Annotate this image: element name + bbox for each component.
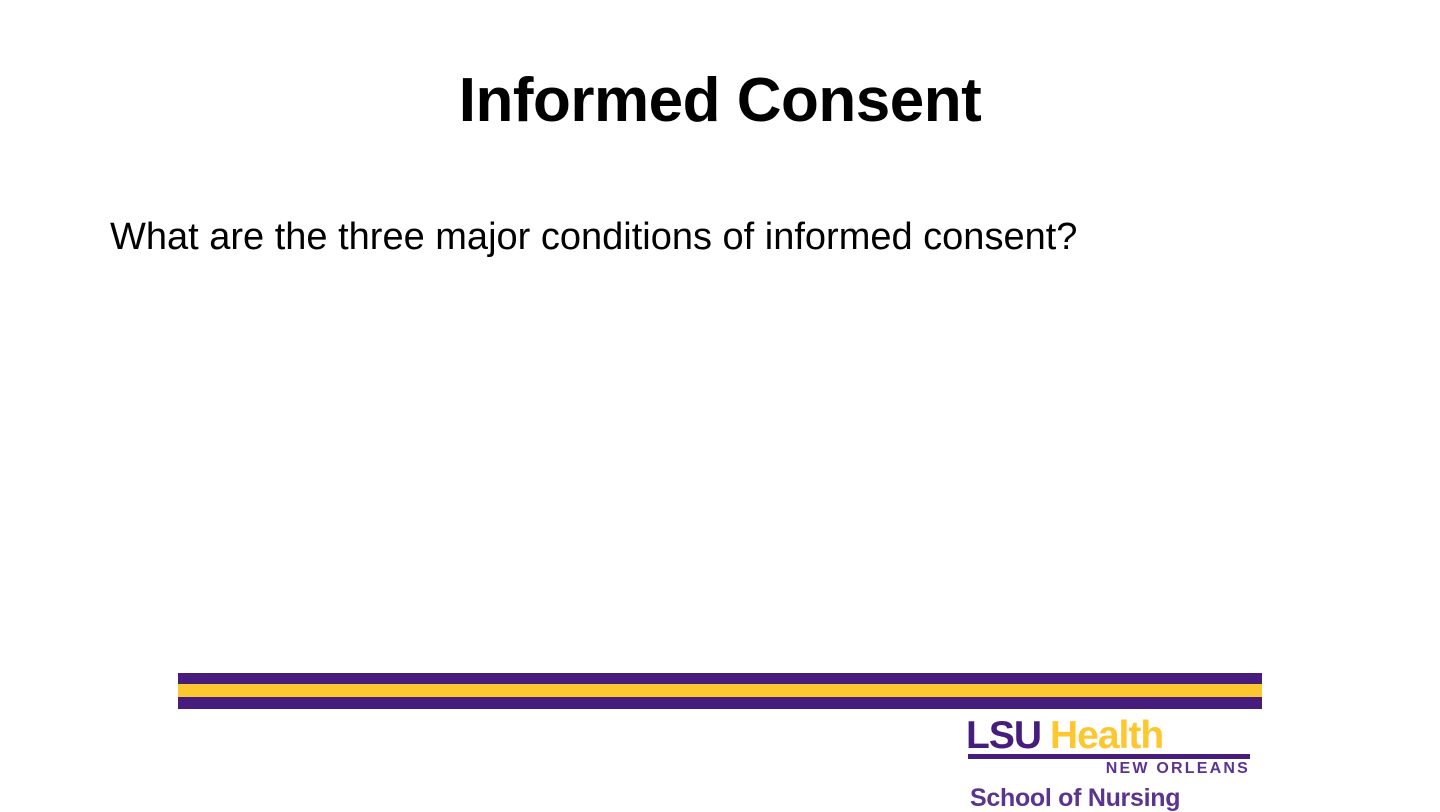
- logo-health-text: Health: [1050, 714, 1163, 757]
- presentation-slide: Informed Consent What are the three majo…: [0, 0, 1440, 812]
- page-title: Informed Consent: [0, 68, 1440, 133]
- stripe-band-purple-top: [178, 673, 1262, 684]
- stripe-band-gold: [178, 684, 1262, 697]
- stripe-band-purple-bottom: [178, 697, 1262, 709]
- logo-school-of-nursing-text: School of Nursing: [970, 784, 1180, 812]
- logo-wordmark: LSUHealth: [966, 716, 1256, 756]
- logo-underline-rule: [968, 754, 1250, 759]
- body-question-line: What are the three major conditions of i…: [110, 214, 1310, 262]
- slide-body: What are the three major conditions of i…: [110, 214, 1310, 262]
- logo-city-text: NEW ORLEANS: [966, 760, 1250, 778]
- footer-accent-stripe: [178, 673, 1262, 709]
- lsu-health-logo: LSUHealth NEW ORLEANS School of Nursing: [966, 716, 1256, 812]
- logo-lsu-text: LSU: [966, 714, 1041, 757]
